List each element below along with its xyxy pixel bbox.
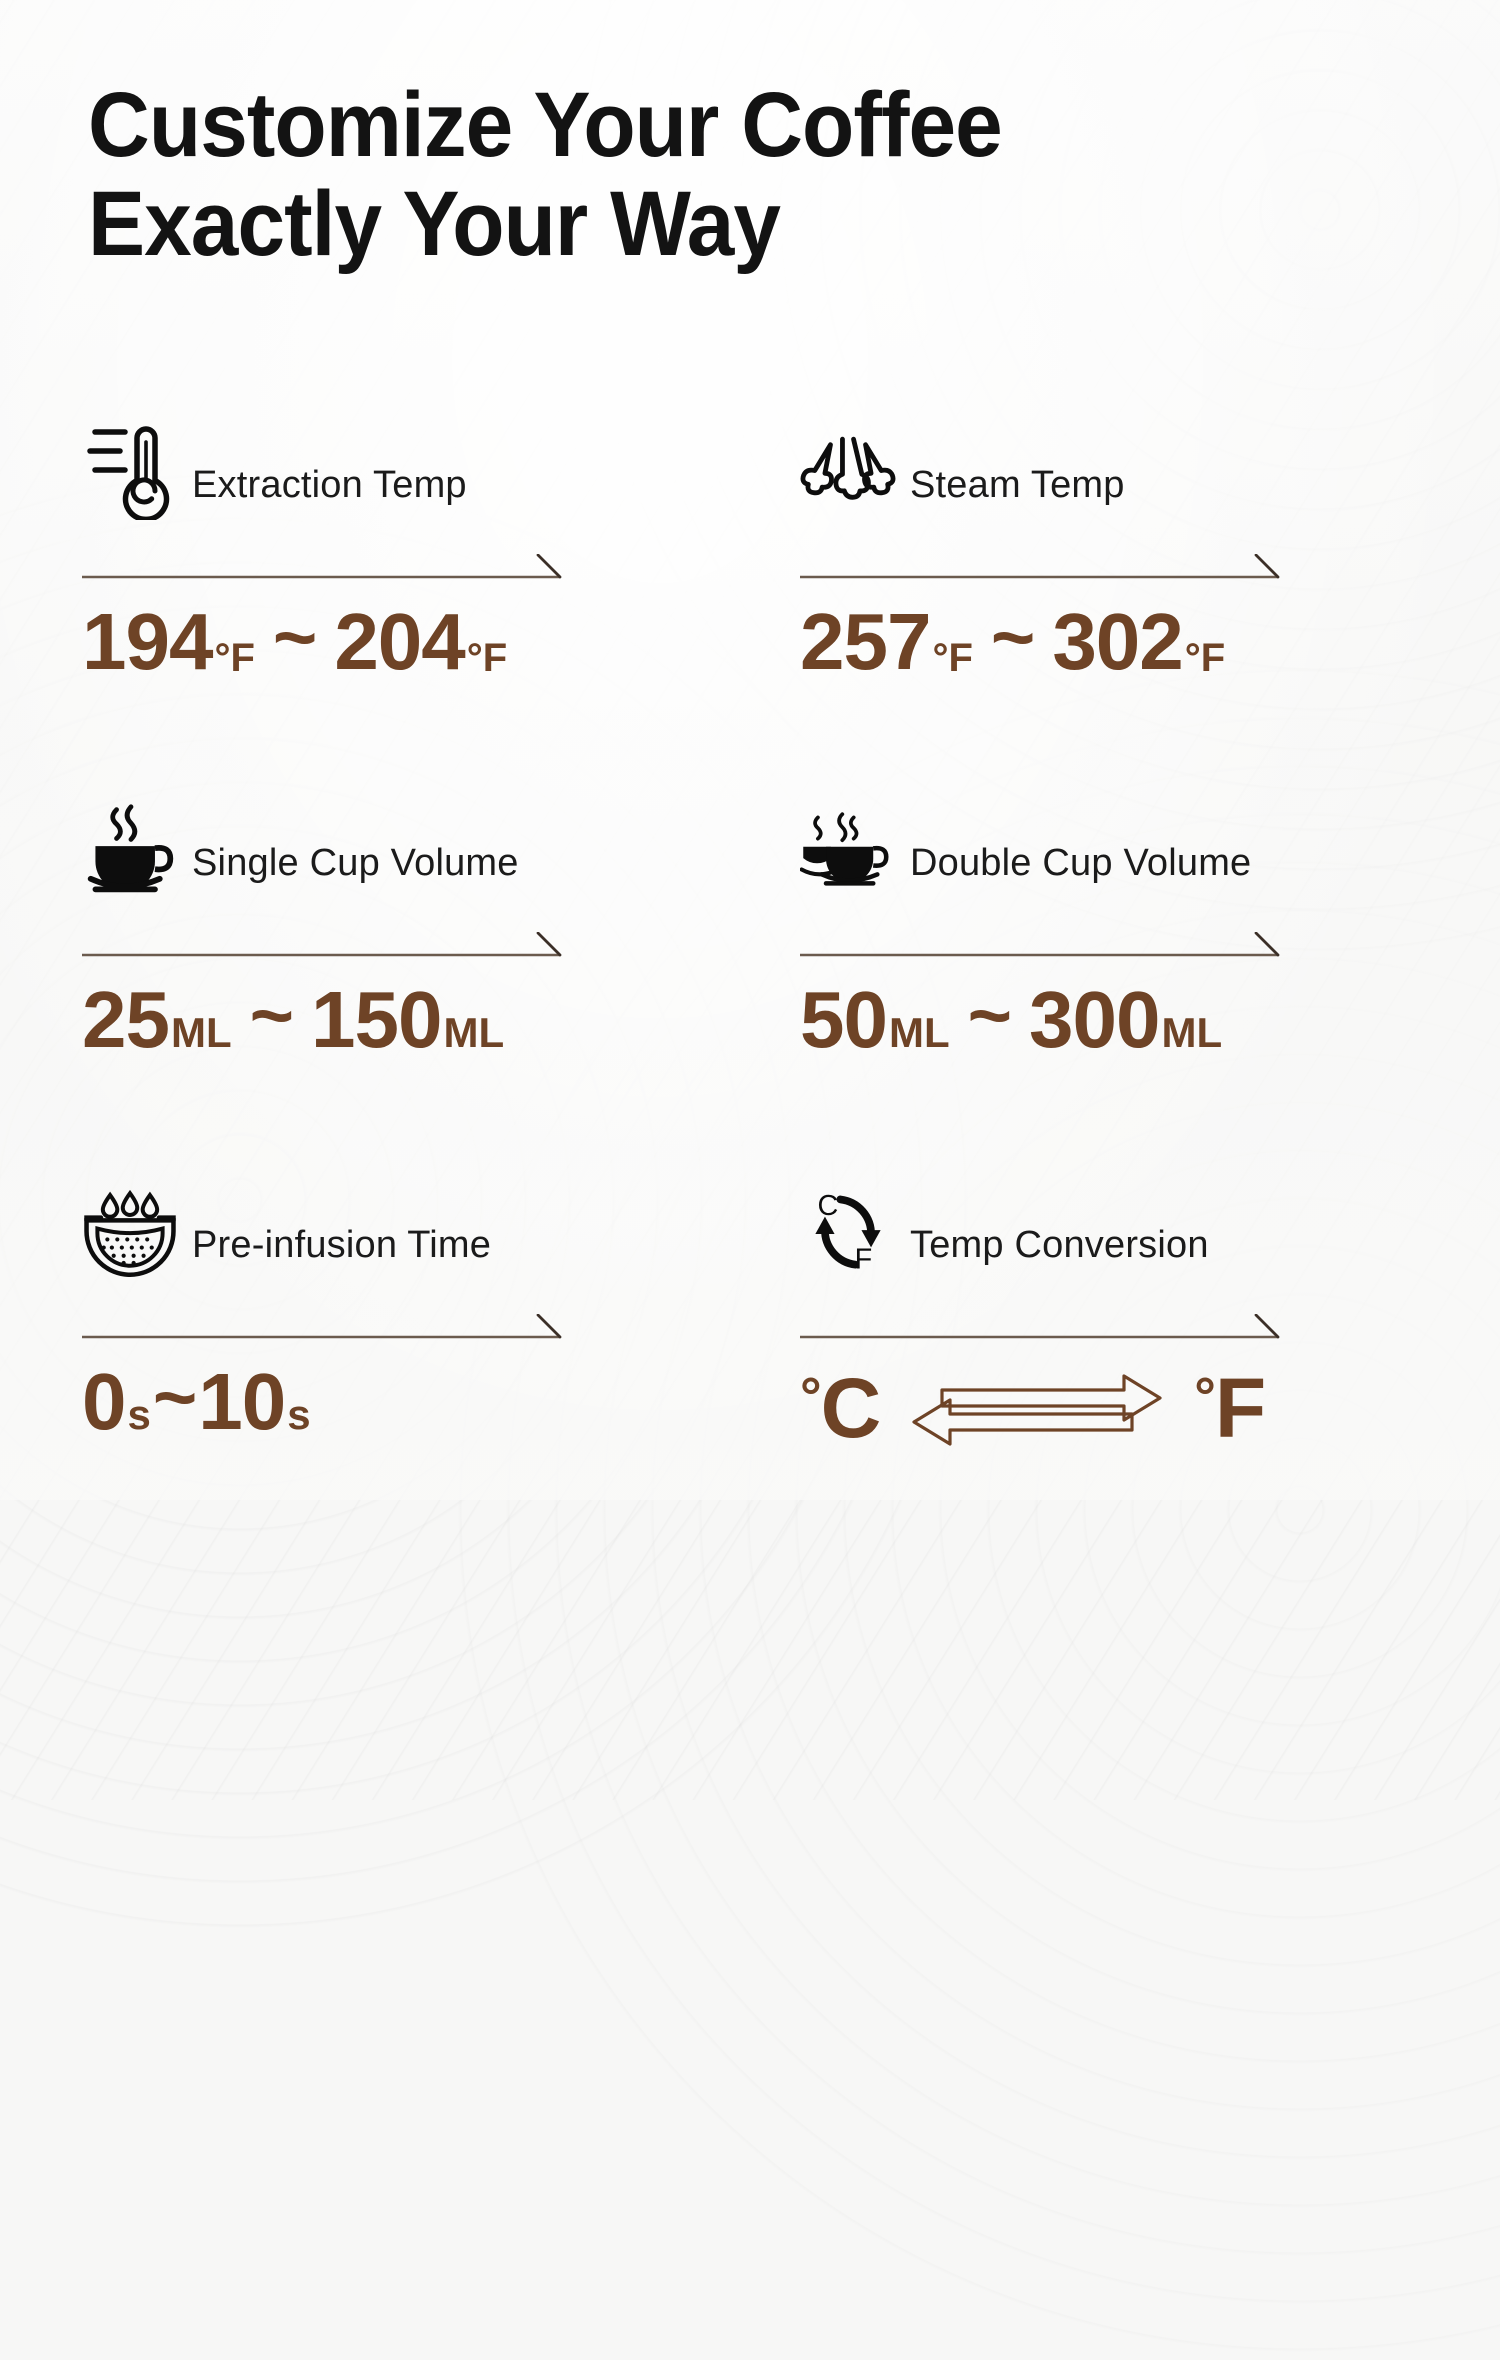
portafilter-basket-icon (82, 1176, 178, 1280)
page-title-line-2: Exactly Your Way (88, 175, 1167, 274)
feature-header: Double Cup Volume (800, 786, 1300, 898)
value-min-unit: ML (889, 1011, 950, 1055)
value-max: 10 (198, 1360, 285, 1444)
value-min: 50 (800, 978, 887, 1062)
icon-letter-celsius: C (817, 1190, 838, 1222)
value-max-unit: ML (444, 1011, 505, 1055)
celsius-unit: °C (800, 1366, 880, 1450)
divider-arrow (800, 554, 1284, 584)
value-separator: ~ (968, 976, 1011, 1056)
value-max-unit: ML (1162, 1011, 1223, 1055)
double-cup-icon (800, 794, 896, 898)
feature-value: 25ML ~ 150ML (82, 978, 582, 1062)
double-headed-arrow-icon (902, 1360, 1172, 1456)
celsius-fahrenheit-cycle-icon: C F (800, 1176, 896, 1280)
feature-value: 194°F ~ 204°F (82, 600, 582, 684)
feature-value: 0s ~ 10s (82, 1360, 582, 1444)
value-min: 194 (82, 600, 212, 684)
divider-arrow (82, 554, 566, 584)
value-max: 302 (1052, 600, 1182, 684)
icon-letter-fahrenheit: F (855, 1244, 873, 1276)
value-min-unit: s (128, 1393, 151, 1437)
thermometer-icon (82, 416, 178, 520)
steam-icon (800, 416, 896, 520)
feature-single-cup-volume: Single Cup Volume 25ML ~ 150ML (82, 786, 582, 1062)
feature-header: Single Cup Volume (82, 786, 582, 898)
feature-value: 50ML ~ 300ML (800, 978, 1300, 1062)
value-min: 0 (82, 1360, 126, 1444)
value-min-unit: °F (214, 637, 254, 679)
value-max-unit: °F (467, 637, 507, 679)
feature-label: Single Cup Volume (192, 844, 519, 898)
single-cup-icon (82, 794, 178, 898)
fahrenheit-unit: °F (1194, 1366, 1265, 1450)
feature-pre-infusion-time: Pre-infusion Time 0s ~ 10s (82, 1168, 582, 1444)
value-separator: ~ (273, 598, 316, 678)
value-max: 204 (334, 600, 464, 684)
page-title-line-1: Customize Your Coffee (88, 76, 1167, 175)
value-min: 257 (800, 600, 930, 684)
divider-arrow (800, 932, 1284, 962)
temperature-conversion-row: °C °F (800, 1360, 1300, 1456)
value-max: 150 (311, 978, 441, 1062)
divider-arrow (82, 932, 566, 962)
value-min: 25 (82, 978, 169, 1062)
page-title: Customize Your Coffee Exactly Your Way (88, 76, 1167, 275)
value-separator: ~ (250, 976, 293, 1056)
feature-label: Double Cup Volume (910, 844, 1251, 898)
value-max-unit: s (287, 1393, 310, 1437)
feature-header: Steam Temp (800, 408, 1300, 520)
feature-header: Pre-infusion Time (82, 1168, 582, 1280)
feature-label: Temp Conversion (910, 1226, 1209, 1280)
value-max-unit: °F (1185, 637, 1225, 679)
feature-label: Steam Temp (910, 466, 1125, 520)
feature-header: C F Temp Conversion (800, 1168, 1300, 1280)
feature-temp-conversion: C F Temp Conversion °C °F (800, 1168, 1300, 1456)
value-min-unit: °F (932, 637, 972, 679)
value-max: 300 (1029, 978, 1159, 1062)
feature-steam-temp: Steam Temp 257°F ~ 302°F (800, 408, 1300, 684)
feature-spec-panel: Customize Your Coffee Exactly Your Way E… (0, 0, 1500, 1500)
divider-arrow (800, 1314, 1284, 1344)
feature-value: 257°F ~ 302°F (800, 600, 1300, 684)
feature-header: Extraction Temp (82, 408, 582, 520)
value-separator: ~ (991, 598, 1034, 678)
value-separator: ~ (153, 1358, 196, 1438)
value-min-unit: ML (171, 1011, 232, 1055)
divider-arrow (82, 1314, 566, 1344)
feature-extraction-temp: Extraction Temp 194°F ~ 204°F (82, 408, 582, 684)
feature-label: Pre-infusion Time (192, 1226, 491, 1280)
feature-double-cup-volume: Double Cup Volume 50ML ~ 300ML (800, 786, 1300, 1062)
feature-label: Extraction Temp (192, 466, 467, 520)
